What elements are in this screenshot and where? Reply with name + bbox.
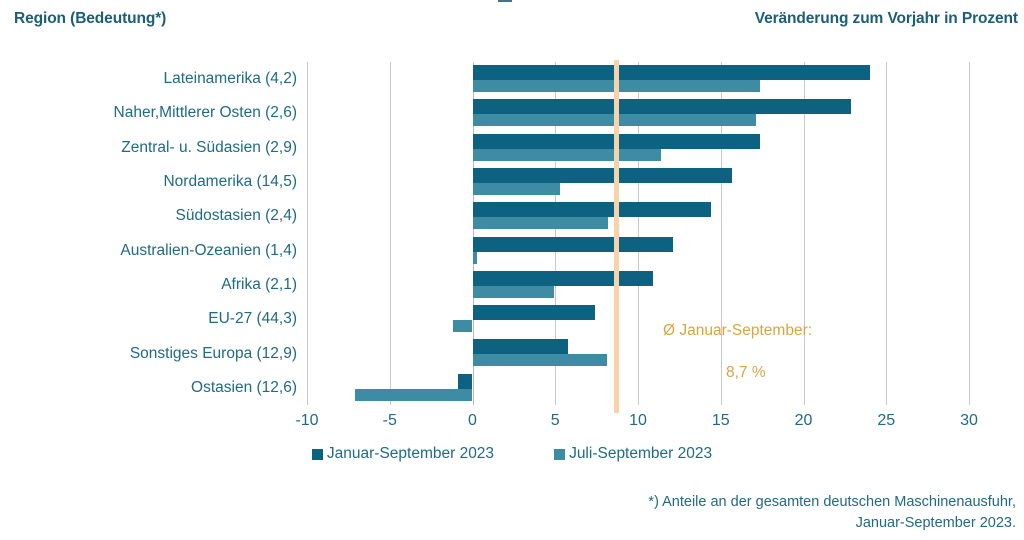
bar-row: [307, 199, 969, 233]
bar-row: [307, 62, 969, 96]
bar-1: [473, 286, 554, 298]
category-label: Lateinamerika (4,2): [0, 70, 297, 88]
category-label: Australien-Ozeanien (1,4): [0, 242, 297, 260]
legend-label: Juli-September 2023: [569, 445, 712, 463]
bar-0: [473, 99, 852, 114]
average-annotation-value: 8,7 %: [726, 364, 766, 382]
category-axis-labels: Lateinamerika (4,2)Naher,Mittlerer Osten…: [0, 62, 297, 405]
x-tick-label: 30: [960, 412, 978, 430]
category-label: EU-27 (44,3): [0, 310, 297, 328]
bar-row: [307, 165, 969, 199]
bar-0: [473, 271, 653, 286]
category-label: Afrika (2,1): [0, 276, 297, 294]
bar-1: [473, 354, 607, 366]
category-label: Zentral- u. Südasien (2,9): [0, 139, 297, 157]
footnote: *) Anteile an der gesamten deutschen Mas…: [496, 492, 1016, 534]
x-tick-label: 25: [877, 412, 895, 430]
bar-row: [307, 96, 969, 130]
x-tick-label: 20: [795, 412, 813, 430]
bar-row: [307, 302, 969, 336]
x-tick-label: -10: [295, 412, 318, 430]
bar-0: [473, 305, 595, 320]
bar-0: [473, 168, 733, 183]
x-tick-label: 10: [629, 412, 647, 430]
category-label: Südostasien (2,4): [0, 207, 297, 225]
x-tick-label: 15: [712, 412, 730, 430]
gridline-30: [969, 62, 970, 405]
bar-1: [473, 217, 609, 229]
bar-row: [307, 268, 969, 302]
category-label: Naher,Mittlerer Osten (2,6): [0, 104, 297, 122]
footnote-line-2: Januar-September 2023.: [496, 513, 1016, 534]
bar-0: [458, 374, 473, 389]
bar-row: [307, 371, 969, 405]
bar-1: [473, 149, 662, 161]
category-label: Ostasien (12,6): [0, 379, 297, 397]
legend-swatch-icon: [554, 449, 565, 460]
x-tick-label: -5: [383, 412, 397, 430]
bar-row: [307, 336, 969, 370]
average-reference-line: [614, 60, 619, 413]
category-label: Sonstiges Europa (12,9): [0, 345, 297, 363]
x-tick-label: 5: [551, 412, 560, 430]
plot-area: [307, 62, 969, 405]
bar-0: [473, 202, 711, 217]
x-tick-label: 0: [468, 412, 477, 430]
bar-rows: [307, 62, 969, 405]
average-annotation-label: Ø Januar-September:: [663, 322, 812, 340]
bar-row: [307, 234, 969, 268]
bar-1: [453, 320, 473, 332]
legend-item[interactable]: Juli-September 2023: [554, 445, 712, 463]
bar-1: [355, 389, 473, 401]
bar-chart: Lateinamerika (4,2)Naher,Mittlerer Osten…: [0, 0, 1024, 540]
bar-0: [473, 339, 569, 354]
legend-item[interactable]: Januar-September 2023: [312, 445, 494, 463]
category-label: Nordamerika (14,5): [0, 173, 297, 191]
legend-swatch-icon: [312, 449, 323, 460]
bar-1: [473, 183, 561, 195]
bar-0: [473, 65, 870, 80]
bar-1: [473, 252, 478, 264]
legend-label: Januar-September 2023: [327, 445, 494, 463]
bar-row: [307, 131, 969, 165]
chart-legend: Januar-September 2023Juli-September 2023: [0, 445, 1024, 463]
bar-0: [473, 237, 673, 252]
footnote-line-1: *) Anteile an der gesamten deutschen Mas…: [496, 492, 1016, 513]
